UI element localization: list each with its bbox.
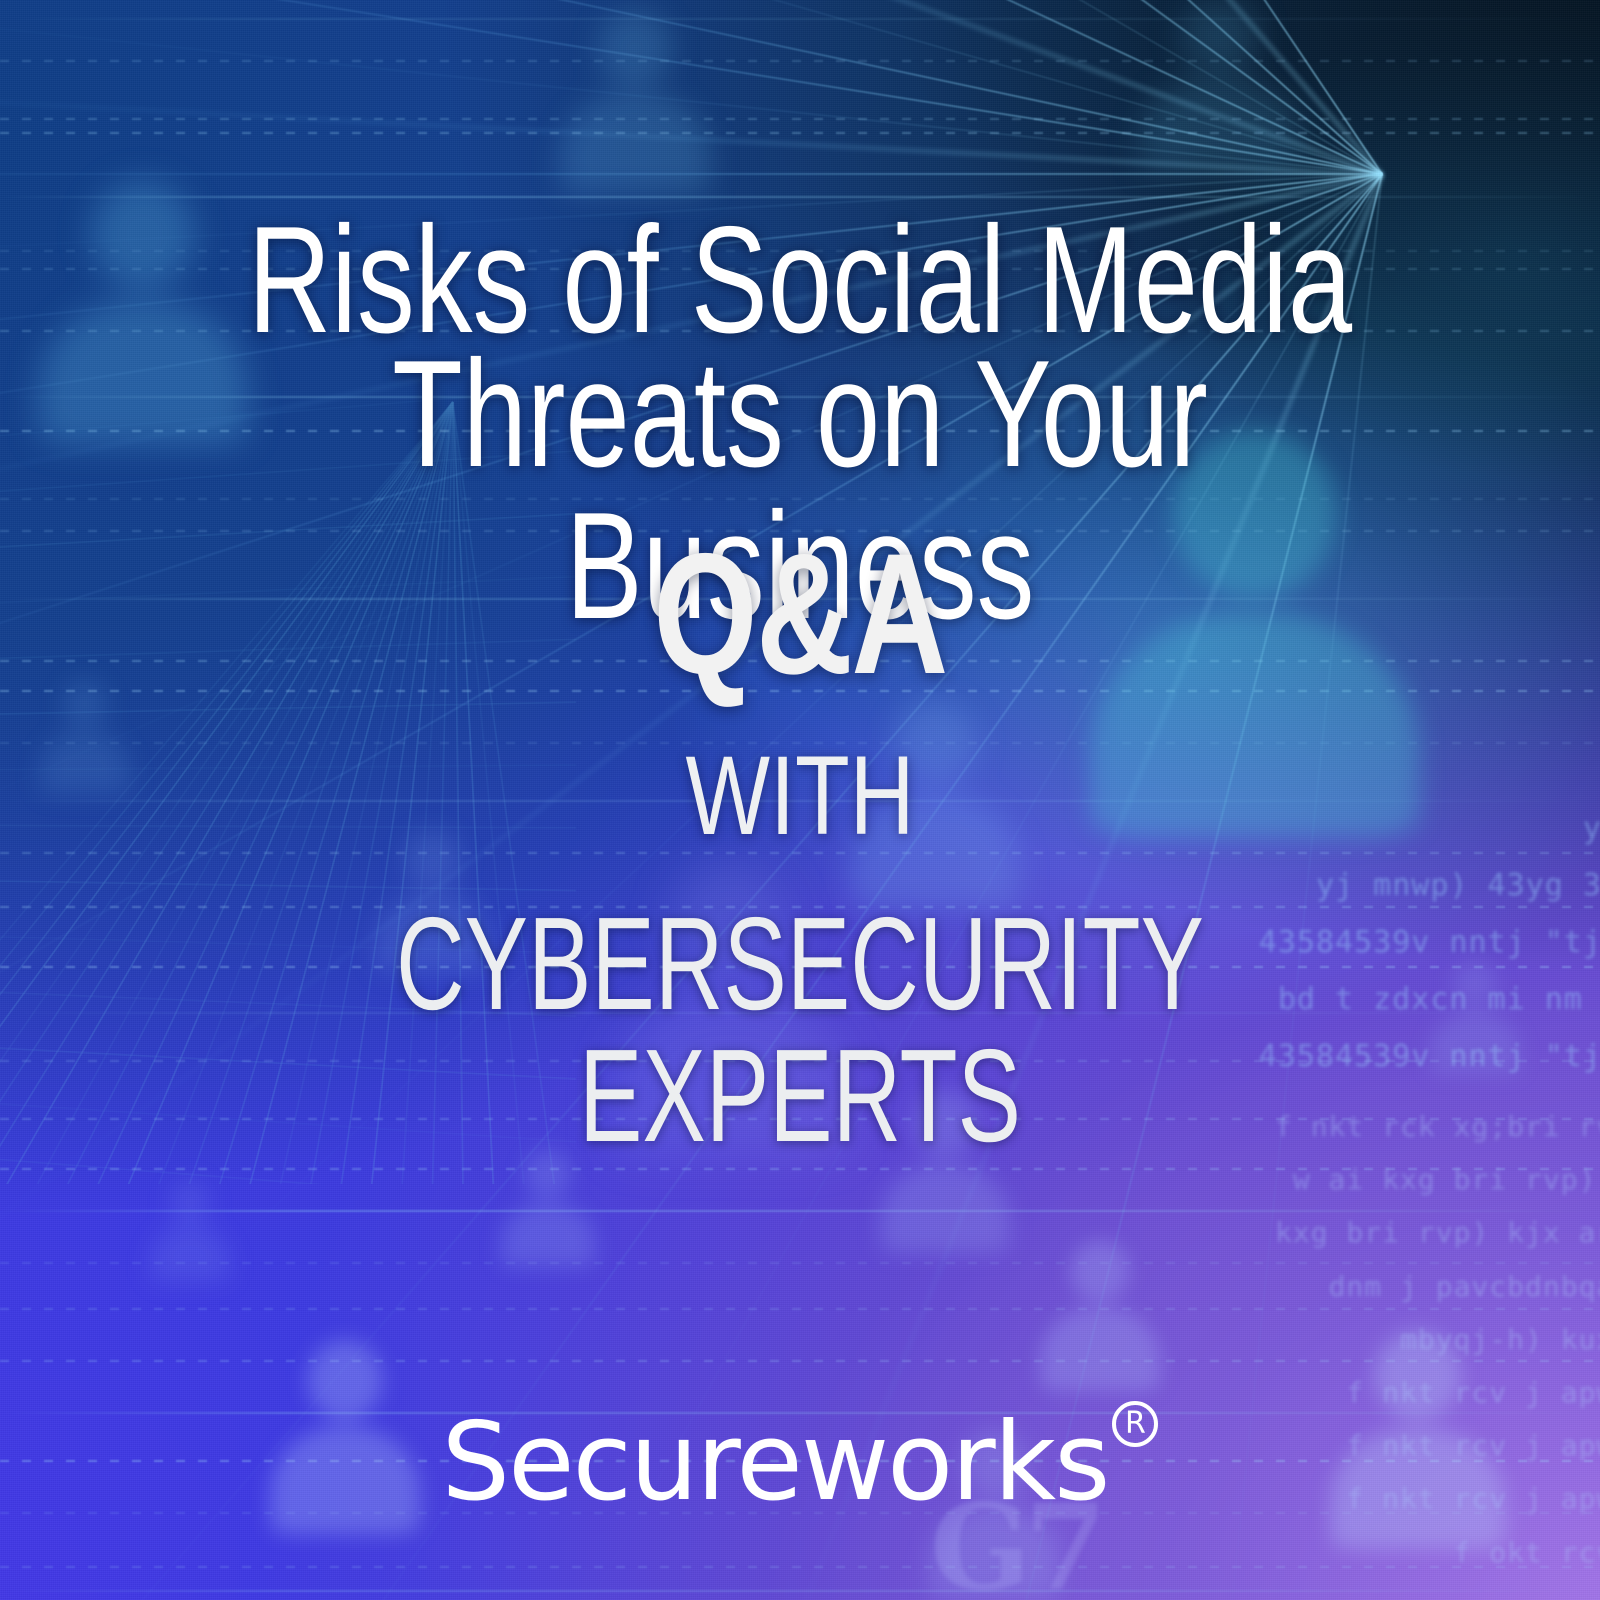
qa-label: Q&A: [176, 528, 1424, 700]
secureworks-wordmark: Secureworks: [442, 1400, 1109, 1525]
foreground-content: Risks of Social Media Threats on Your Bu…: [0, 0, 1600, 1600]
secureworks-logo: Secureworks: [0, 1400, 1600, 1525]
registered-trademark-icon: [1112, 1401, 1158, 1447]
promo-graphic-canvas: y .yj mnwp) 43yg 3yg43584539v nntj "tj u…: [0, 0, 1600, 1600]
with-label: WITH: [160, 740, 1440, 852]
cybersecurity-experts-label: CYBERSECURITY EXPERTS: [224, 898, 1376, 1162]
